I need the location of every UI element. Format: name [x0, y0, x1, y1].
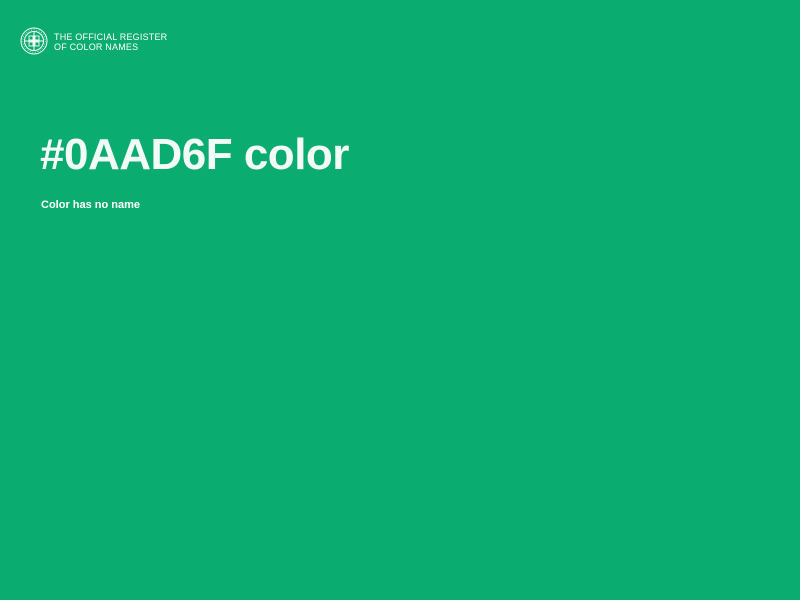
page-title: #0AAD6F color [40, 131, 349, 179]
brand-text: THE OFFICIAL REGISTER OF COLOR NAMES [54, 31, 167, 52]
register-seal-icon [20, 27, 48, 55]
color-swatch-page: THE OFFICIAL REGISTER OF COLOR NAMES #0A… [0, 0, 800, 600]
brand-line-1: THE OFFICIAL REGISTER [54, 32, 167, 42]
brand-lockup[interactable]: THE OFFICIAL REGISTER OF COLOR NAMES [20, 27, 167, 55]
color-name-status: Color has no name [41, 198, 140, 212]
brand-line-2: OF COLOR NAMES [54, 42, 167, 52]
